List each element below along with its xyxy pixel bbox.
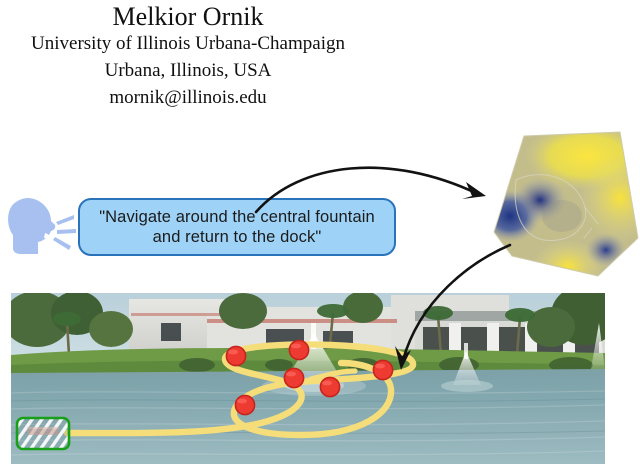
instruction-speech-bubble: "Navigate around the central fountain an… bbox=[78, 198, 396, 256]
slide-root: Melkior Ornik University of Illinois Urb… bbox=[0, 0, 640, 464]
dock-marker bbox=[17, 418, 69, 449]
author-affiliation: University of Illinois Urbana-Champaign bbox=[0, 33, 376, 55]
cost-surface-plot bbox=[492, 128, 640, 280]
instruction-text: "Navigate around the central fountain an… bbox=[91, 207, 383, 247]
instruction-line-2: and return to the dock" bbox=[153, 228, 322, 246]
instruction-line-1: "Navigate around the central fountain bbox=[99, 208, 375, 226]
lake-scene-photo bbox=[11, 293, 605, 464]
author-location: Urbana, Illinois, USA bbox=[0, 60, 376, 82]
author-email: mornik@illinois.edu bbox=[0, 87, 376, 109]
speaking-head-icon bbox=[4, 192, 78, 262]
author-name: Melkior Ornik bbox=[0, 2, 376, 32]
arrowhead-terrain bbox=[462, 182, 486, 199]
